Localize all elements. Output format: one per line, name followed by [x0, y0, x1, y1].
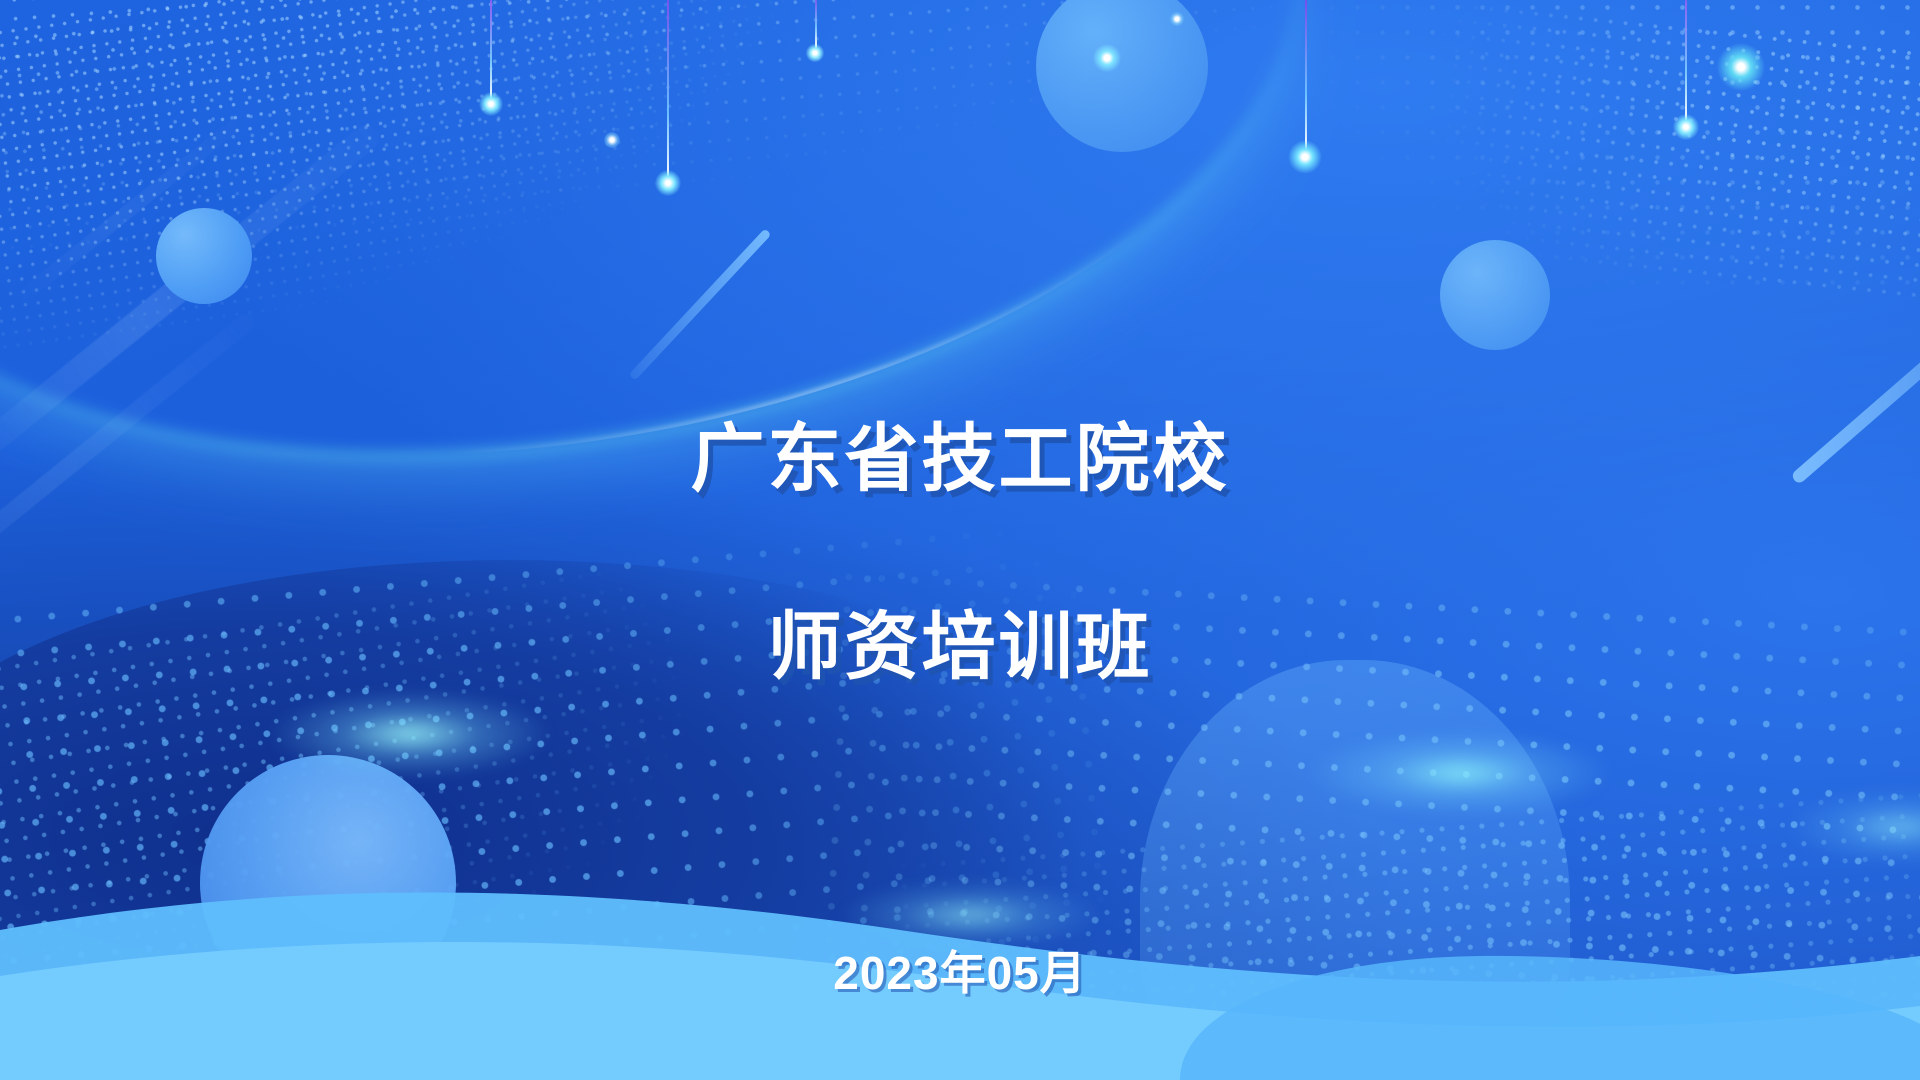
title-line-2: 师资培训班	[691, 600, 1230, 694]
page-title: 广东省技工院校 师资培训班	[691, 318, 1230, 788]
slide-canvas: 广东省技工院校 师资培训班 2023年05月	[0, 0, 1920, 1080]
slide-date: 2023年05月	[833, 937, 1087, 1003]
title-line-1: 广东省技工院校	[691, 412, 1230, 506]
slide-content: 广东省技工院校 师资培训班 2023年05月	[0, 0, 1920, 1080]
